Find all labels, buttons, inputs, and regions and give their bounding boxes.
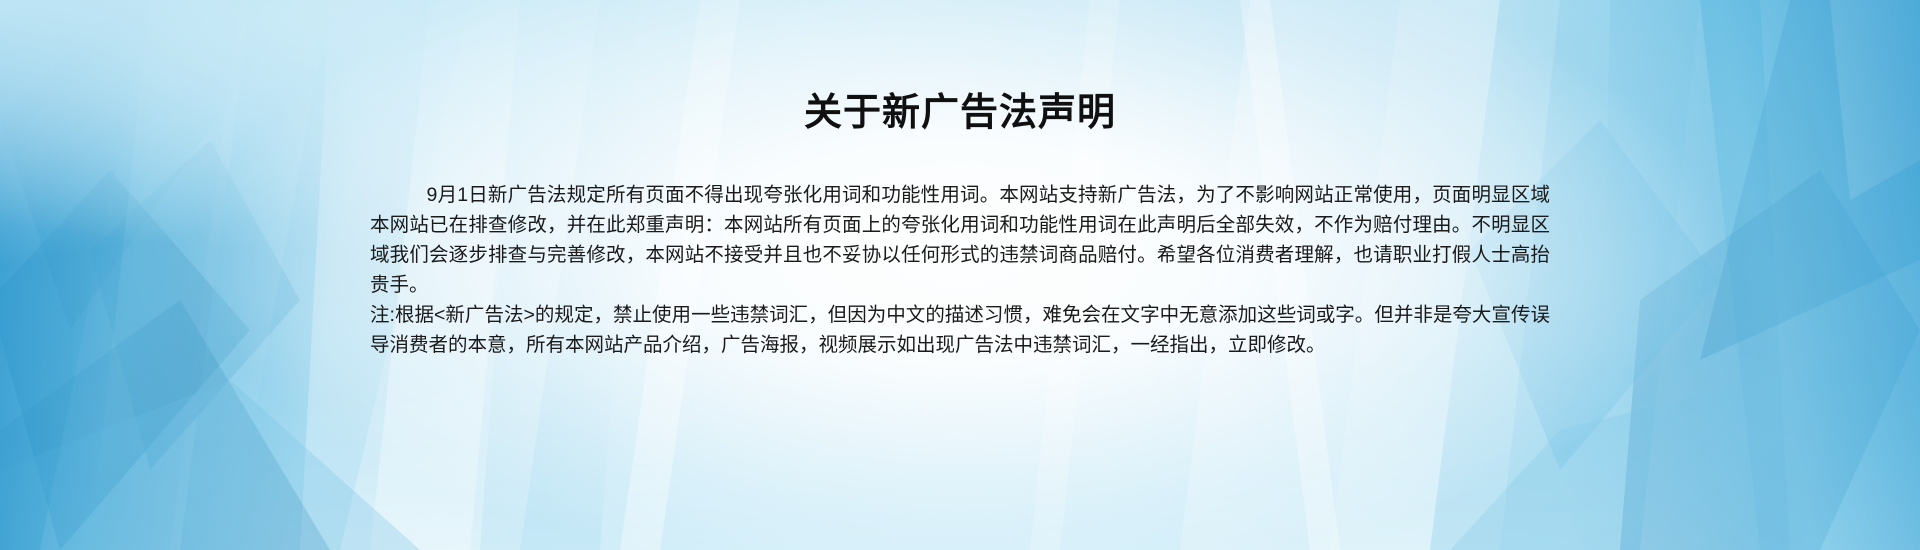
- banner-content: 关于新广告法声明 9月1日新广告法规定所有页面不得出现夸张化用词和功能性用词。本…: [0, 0, 1920, 550]
- statement-paragraph-note: 注:根据<新广告法>的规定，禁止使用一些违禁词汇，但因为中文的描述习惯，难免会在…: [370, 300, 1550, 360]
- page-title: 关于新广告法声明: [0, 89, 1920, 137]
- advertising-law-statement-banner: 关于新广告法声明 9月1日新广告法规定所有页面不得出现夸张化用词和功能性用词。本…: [0, 0, 1920, 550]
- statement-paragraph-main: 9月1日新广告法规定所有页面不得出现夸张化用词和功能性用词。本网站支持新广告法，…: [370, 180, 1550, 300]
- statement-body: 9月1日新广告法规定所有页面不得出现夸张化用词和功能性用词。本网站支持新广告法，…: [370, 180, 1550, 360]
